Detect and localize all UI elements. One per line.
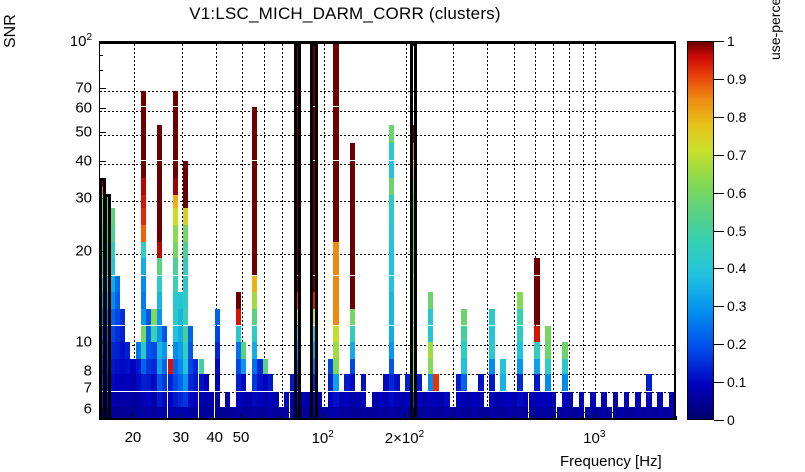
x-axis-tick-label: 102 [312,429,334,447]
plot-canvas: V1:LSC_MICH_DARM_CORR (clusters) SNR 102… [0,0,805,472]
colorbar-tick-mark [714,344,724,345]
x-axis-tick-mark [133,414,134,420]
colorbar-tick-label: 0.7 [727,147,746,163]
x-axis-minor-tick [452,416,453,420]
colorbar-tick-label: 0.9 [727,71,746,87]
x-axis-label: Frequency [Hz] [560,453,662,470]
colorbar-tick-label: 0.3 [727,298,746,314]
colorbar-tick-mark [714,41,724,42]
x-axis-minor-tick [676,416,677,420]
x-axis-minor-tick [310,416,311,420]
colorbar [687,41,714,420]
x-axis-minor-tick [486,416,487,420]
y-axis-tick-label: 30 [75,190,92,207]
colorbar-tick-label: 0.8 [727,109,746,125]
y-axis-tick-mark [99,371,106,372]
colorbar-tick-mark [714,155,724,156]
y-axis-tick-label: 8 [84,363,92,380]
y-axis-tick-label: 70 [75,79,92,96]
colorbar-tick-mark [714,79,724,80]
y-axis-tick-mark [99,409,106,410]
y-axis-minor-tick [99,70,103,71]
colorbar-tick-label: 0.5 [727,223,746,239]
cluster-outline-box [410,43,418,420]
x-axis-minor-tick [296,416,297,420]
y-axis-tick-label: 50 [75,123,92,140]
colorbar-tick-label: 0.2 [727,336,746,352]
x-axis-tick-label: 2×102 [385,429,424,447]
colorbar-tick-label: 1 [727,33,735,49]
x-axis-minor-tick [262,416,263,420]
x-axis-tick-label: 103 [583,429,605,447]
x-axis-tick-label: 20 [125,429,142,446]
x-axis-tick-mark [181,414,182,420]
colorbar-tick-mark [714,268,724,269]
y-axis-tick-mark [99,41,106,42]
x-axis-tick-label: 40 [206,429,223,446]
colorbar-title: use-percentage [767,0,783,60]
x-axis-tick-mark [241,414,242,420]
x-axis-tick-mark [215,414,216,420]
y-axis-tick-mark [99,251,106,252]
colorbar-tick-mark [714,420,724,421]
x-axis-tick-mark [594,414,595,420]
y-axis-tick-mark [99,108,106,109]
y-axis-tick-label: 7 [84,380,92,397]
y-axis-tick-mark [99,161,106,162]
x-axis-minor-tick [534,416,535,420]
colorbar-gradient [688,42,713,419]
x-axis-minor-tick [552,416,553,420]
y-axis-tick-label: 40 [75,152,92,169]
colorbar-tick-mark [714,117,724,118]
x-axis-tick-label: 50 [233,429,250,446]
cluster-outline-box [310,43,317,420]
y-axis-tick-mark [99,388,106,389]
y-axis-tick-label: 60 [75,99,92,116]
y-axis-tick-mark [99,198,106,199]
x-axis-minor-tick [513,416,514,420]
y-axis-label: SNR [2,14,20,48]
heatmap-plot-area [99,41,676,420]
colorbar-tick-mark [714,231,724,232]
y-axis-tick-label: 102 [70,32,92,50]
colorbar-tick-mark [714,382,724,383]
colorbar-tick-label: 0.4 [727,260,746,276]
colorbar-tick-mark [714,193,724,194]
y-axis-tick-label: 6 [84,400,92,417]
colorbar-tick-label: 0.1 [727,374,746,390]
x-axis-minor-tick [582,416,583,420]
y-axis-minor-tick [99,356,103,357]
y-axis-tick-label: 20 [75,243,92,260]
x-axis-minor-tick [568,416,569,420]
cluster-outline-box [294,43,301,420]
y-axis-tick-label: 10 [75,333,92,350]
colorbar-tick-label: 0.6 [727,185,746,201]
x-axis-tick-mark [323,414,324,420]
y-axis-minor-tick [99,55,103,56]
cluster-outlines [100,44,674,418]
x-axis-tick-mark [404,414,405,420]
y-axis-tick-mark [99,88,106,89]
y-axis-tick-mark [99,342,106,343]
x-axis-tick-label: 30 [172,429,189,446]
colorbar-tick-mark [714,306,724,307]
x-axis-minor-tick [281,416,282,420]
y-axis-tick-mark [99,132,106,133]
colorbar-tick-label: 0 [727,412,735,428]
page-title: V1:LSC_MICH_DARM_CORR (clusters) [0,4,690,24]
cluster-outline-box [104,194,111,420]
